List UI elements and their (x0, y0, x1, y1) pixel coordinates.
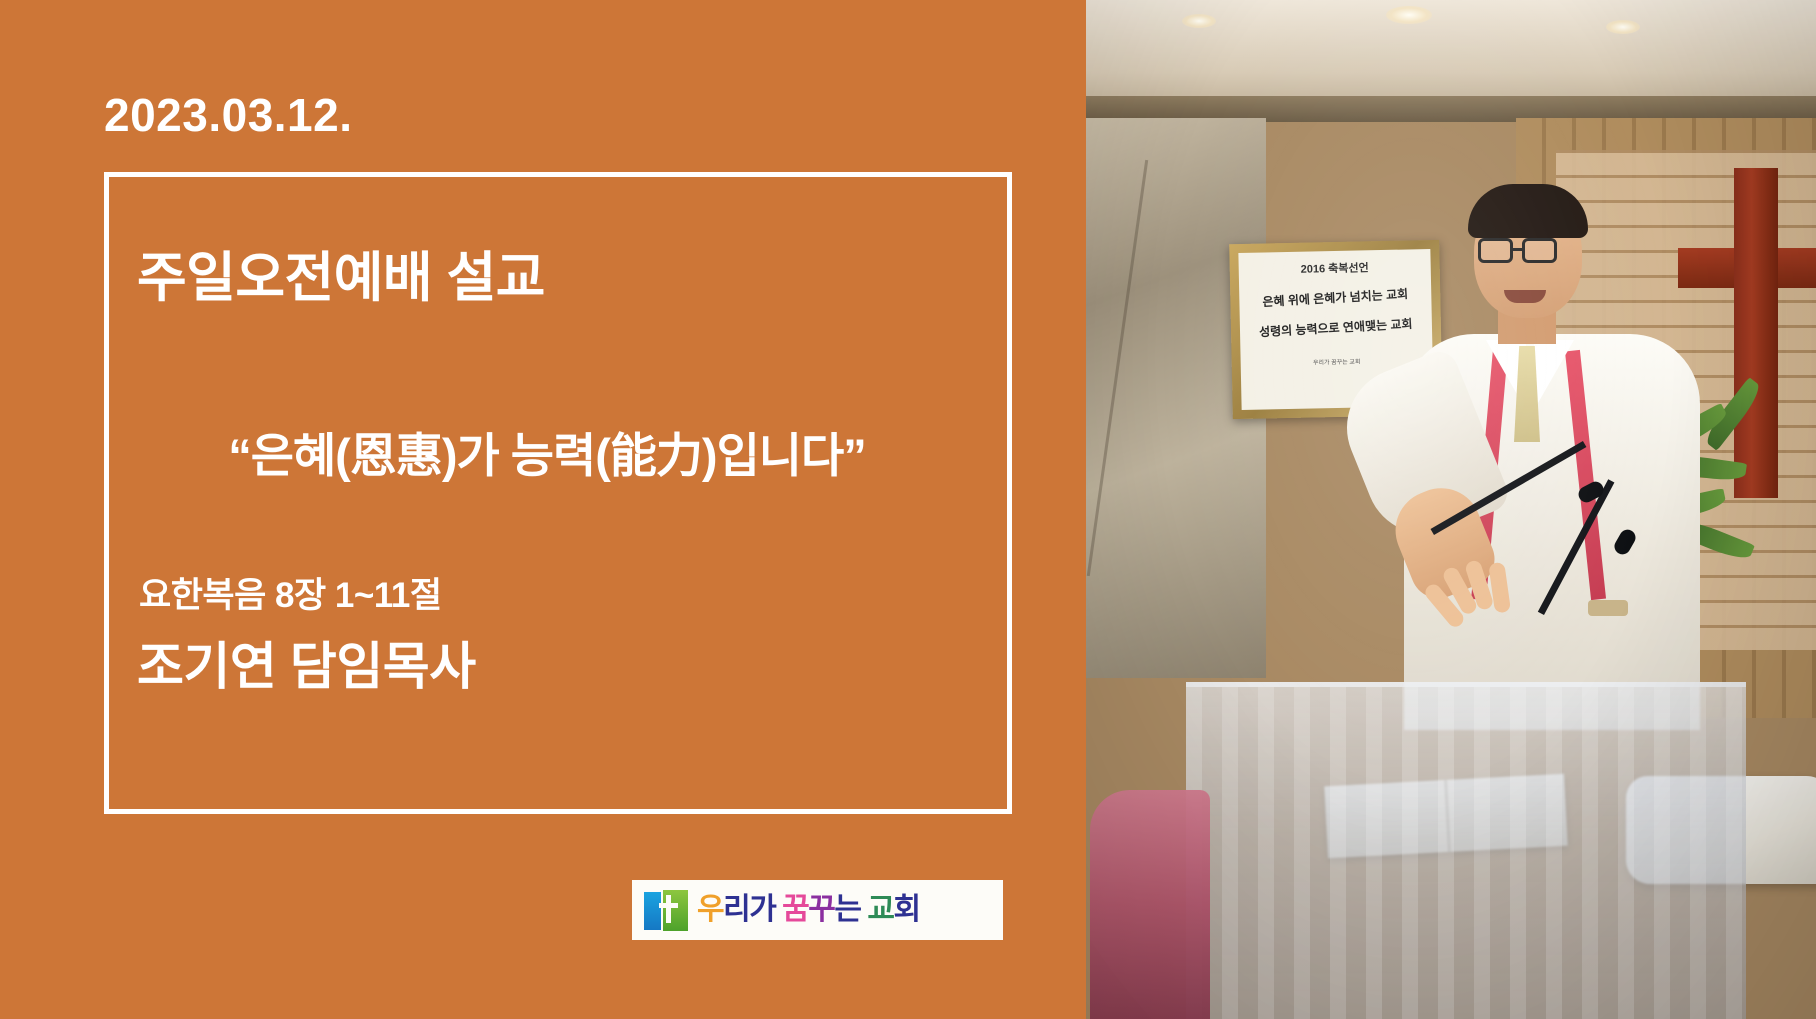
photo-preacher-glasses-right (1522, 238, 1557, 263)
photo-preacher-wristwatch (1588, 600, 1628, 616)
photo-preacher-hair (1468, 184, 1588, 238)
left-text-panel: 2023.03.12. 주일오전예배 설교 “은혜(恩惠)가 능력(能力)입니다… (0, 0, 1086, 1019)
sermon-date: 2023.03.12. (104, 88, 353, 142)
photo-preacher-glasses-left (1478, 238, 1513, 263)
service-title: 주일오전예배 설교 (137, 233, 545, 312)
photo-preacher-hand (1384, 476, 1503, 606)
logo-char-1: 우 (697, 893, 723, 926)
photo-acrylic-pulpit (1186, 682, 1746, 1019)
church-logo: 우리가 꿈꾸는 교회 (632, 880, 1003, 940)
church-logo-text: 우리가 꿈꾸는 교회 (697, 895, 920, 925)
logo-cross-horizontal (659, 903, 678, 908)
photo-preacher-glasses-bridge (1513, 248, 1522, 251)
logo-char-4: 꾸 (808, 893, 834, 926)
open-door-cross-icon (644, 890, 688, 931)
photo-ceiling-light (1182, 14, 1216, 28)
photo-floral-arrangement (1090, 790, 1210, 1019)
photo-pulpit-reflections (1186, 687, 1746, 1019)
photo-preacher-mouth (1504, 290, 1546, 303)
sermon-announcement-slide: 2023.03.12. 주일오전예배 설교 “은혜(恩惠)가 능력(能力)입니다… (0, 0, 1816, 1019)
logo-cross-vertical (666, 895, 671, 923)
sermon-title: “은혜(恩惠)가 능력(能力)입니다” (109, 417, 985, 486)
logo-char-2: 리가 (723, 893, 775, 926)
logo-door-left-shape (644, 892, 661, 930)
photo-preacher-figure (1326, 168, 1746, 728)
logo-char-3: 꿈 (782, 893, 808, 926)
scripture-reference: 요한복음 8장 1~11절 (139, 567, 442, 618)
logo-char-5: 는 (834, 893, 860, 926)
photo-ceiling-light (1606, 20, 1640, 34)
logo-char-7: 회 (893, 893, 919, 926)
logo-char-6: 교 (867, 893, 893, 926)
photo-ceiling-light (1386, 6, 1432, 24)
preacher-name: 조기연 담임목사 (137, 625, 476, 699)
sanctuary-photo: 2016 축복선언 은혜 위에 은혜가 넘치는 교회 성령의 능력으로 연애맺는… (1086, 0, 1816, 1019)
content-frame-box: 주일오전예배 설교 “은혜(恩惠)가 능력(能力)입니다” 요한복음 8장 1~… (104, 172, 1012, 814)
